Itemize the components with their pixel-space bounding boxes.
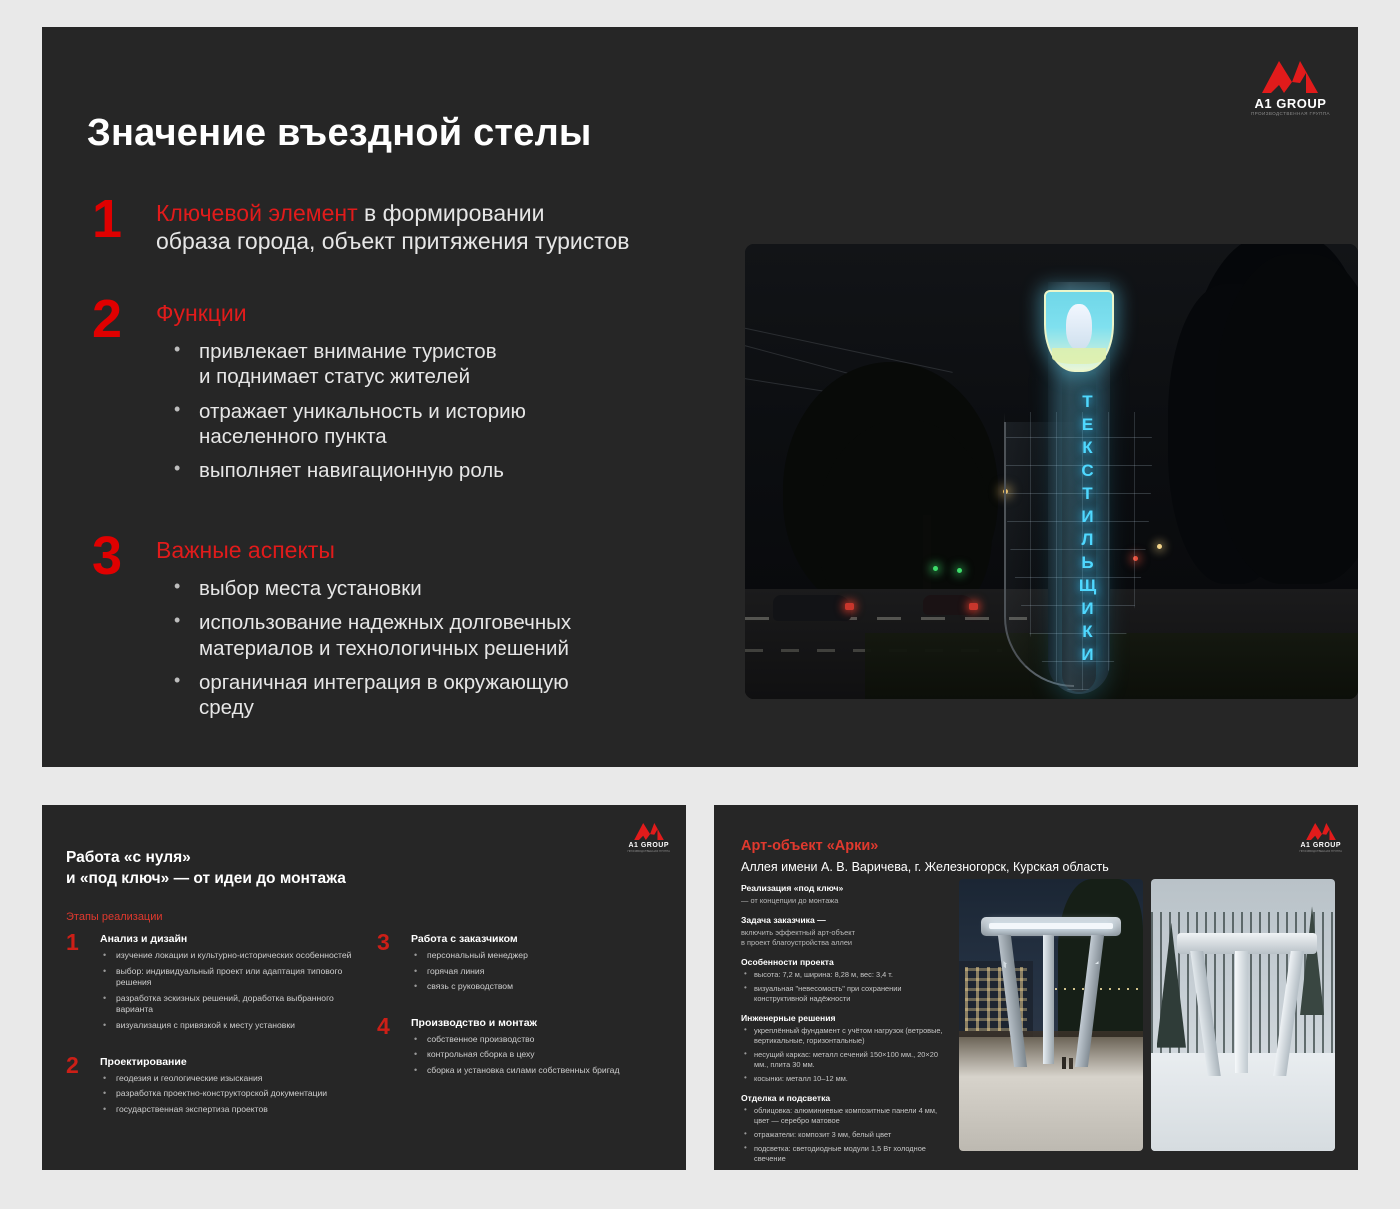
list-item: отражатели: композит 3 мм, белый цвет	[741, 1130, 946, 1140]
point-block-1: 1 Ключевой элемент в формировании образа…	[86, 197, 686, 255]
list-item: связь с руководством	[411, 981, 666, 993]
list-item: контрольная сборка в цеху	[411, 1049, 666, 1061]
list-item: отражает уникальность и историю населенн…	[156, 399, 686, 449]
slide-entry-stele-meaning: A1 GROUP ПРОИЗВОДСТВЕННАЯ ГРУППА Значени…	[42, 27, 1358, 767]
stages-grid: 1 Анализ и дизайн изучение локации и кул…	[66, 933, 666, 1139]
stage-heading: Работа с заказчиком	[411, 933, 666, 945]
list-item: привлекает внимание туристов и поднимает…	[156, 339, 686, 389]
section-heading: Задача заказчика —	[741, 915, 946, 926]
arch-leg-left	[1190, 951, 1220, 1076]
list-item: косынки: металл 10–12 мм.	[741, 1074, 946, 1084]
section-heading: Инженерные решения	[741, 1013, 946, 1024]
arch-structure	[1177, 933, 1317, 1069]
point-lead: образа города, объект притяжения туристо…	[156, 227, 686, 255]
stage-item-1: 1 Анализ и дизайн изучение локации и кул…	[66, 933, 355, 1036]
a1-group-logo: A1 GROUP ПРОИЗВОДСТВЕННАЯ ГРУППА	[1251, 59, 1330, 117]
photo-tree-center	[1215, 254, 1358, 584]
logo-wordmark: A1 GROUP	[1300, 842, 1341, 849]
list-item: подсветка: светодиодные модули 1,5 Вт хо…	[741, 1144, 946, 1164]
point-bullets: привлекает внимание туристов и поднимает…	[156, 339, 686, 483]
list-item: геодезия и геологические изыскания	[100, 1073, 355, 1085]
point-number: 1	[86, 197, 156, 241]
stage-item-4: 4 Производство и монтаж собственное прои…	[377, 1017, 666, 1081]
point-heading-plain: в формировании	[358, 200, 545, 226]
photo-pedestrian	[1069, 1058, 1073, 1069]
arch-structure	[981, 917, 1121, 1064]
city-coat-of-arms-icon	[1044, 290, 1114, 372]
section-bullets: облицовка: алюминиевые композитные панел…	[741, 1106, 946, 1164]
a1-logo-mark	[1262, 59, 1318, 93]
point-block-2: 2 Функции привлекает внимание туристов и…	[86, 297, 686, 492]
list-item: использование надежных долговечных матер…	[156, 610, 686, 660]
slide-subtitle: Аллея имени А. В. Варичева, г. Железного…	[741, 860, 1109, 874]
arki-details: Реализация «под ключ» — от концепции до …	[741, 883, 946, 1168]
list-item: разработка эскизных решений, доработка в…	[100, 993, 355, 1016]
arch-leg-middle	[1235, 951, 1248, 1073]
stages-column-right: 3 Работа с заказчиком персональный менед…	[377, 933, 666, 1139]
photo-street-lamp	[1157, 544, 1162, 549]
a1-group-logo: A1 GROUP ПРОИЗВОДСТВЕННАЯ ГРУППА	[627, 822, 670, 853]
photo-pedestrian	[1062, 1057, 1066, 1069]
logo-subword: ПРОИЗВОДСТВЕННАЯ ГРУППА	[1299, 850, 1342, 853]
presentation-page: A1 GROUP ПРОИЗВОДСТВЕННАЯ ГРУППА Значени…	[0, 0, 1400, 1209]
section-heading: Реализация «под ключ»	[741, 883, 946, 894]
list-item: государственная экспертиза проектов	[100, 1104, 355, 1116]
page-title: Значение въездной стелы	[87, 112, 592, 155]
list-item: визуализация с привязкой к месту установ…	[100, 1020, 355, 1032]
arch-leg-middle	[1043, 935, 1054, 1064]
slide-subtitle: Этапы реализации	[66, 911, 163, 923]
main-points-list: 1 Ключевой элемент в формировании образа…	[86, 197, 686, 767]
logo-wordmark: A1 GROUP	[628, 842, 669, 849]
photo-traffic-light-green	[957, 568, 962, 573]
stele-night-photo: ТЕКСТИЛЬЩИКИ	[745, 244, 1358, 699]
slide-title: Арт-объект «Арки»	[741, 838, 878, 854]
section-heading: Отделка и подсветка	[741, 1093, 946, 1104]
point-number: 2	[86, 297, 156, 341]
list-item: персональный менеджер	[411, 950, 666, 962]
photo-stele-structure: ТЕКСТИЛЬЩИКИ	[1000, 262, 1155, 687]
section-note: — от концепции до монтажа	[741, 896, 946, 906]
list-item: горячая линия	[411, 966, 666, 978]
slide-art-object-arki: A1 GROUP ПРОИЗВОДСТВЕННАЯ ГРУППА Арт-объ…	[714, 805, 1358, 1170]
list-item: выбор места установки	[156, 576, 686, 601]
list-item: визуальная "невесомость" при сохранении …	[741, 984, 946, 1004]
arki-photo-gallery	[959, 879, 1335, 1151]
arki-photo-night	[959, 879, 1143, 1151]
a1-logo-mark	[1306, 822, 1336, 840]
stage-bullets: собственное производство контрольная сбо…	[411, 1034, 666, 1077]
logo-subword: ПРОИЗВОДСТВЕННАЯ ГРУППА	[1251, 112, 1330, 117]
arki-photo-winter-day	[1151, 879, 1335, 1151]
stage-heading: Производство и монтаж	[411, 1017, 666, 1029]
list-item: несущий каркас: металл сечений 150×100 м…	[741, 1050, 946, 1070]
a1-group-logo: A1 GROUP ПРОИЗВОДСТВЕННАЯ ГРУППА	[1299, 822, 1342, 853]
a1-logo-mark	[634, 822, 664, 840]
photo-car	[773, 595, 851, 621]
stage-number: 3	[377, 933, 411, 953]
list-item: высота: 7,2 м, ширина: 8,28 м, вес: 3,4 …	[741, 970, 946, 980]
list-item: выбор: индивидуальный проект или адаптац…	[100, 966, 355, 989]
list-item: укреплённый фундамент с учётом нагрузок …	[741, 1026, 946, 1046]
stage-heading: Анализ и дизайн	[100, 933, 355, 945]
arch-leg-right	[1273, 951, 1303, 1076]
slide-title: Работа «с нуля» и «под ключ» — от идеи д…	[66, 847, 346, 890]
stage-number: 1	[66, 933, 100, 953]
point-block-3: 3 Важные аспекты выбор места установки и…	[86, 534, 686, 729]
stage-bullets: изучение локации и культурно-исторически…	[100, 950, 355, 1032]
stele-vertical-caption: ТЕКСТИЛЬЩИКИ	[1062, 380, 1096, 680]
point-heading-accent: Ключевой элемент	[156, 200, 358, 226]
list-item: выполняет навигационную роль	[156, 458, 686, 483]
photo-traffic-light-green	[933, 566, 938, 571]
list-item: собственное производство	[411, 1034, 666, 1046]
point-heading: Функции	[156, 299, 686, 327]
list-item: облицовка: алюминиевые композитные панел…	[741, 1106, 946, 1126]
section-note: включить эффектный арт-объект в проект б…	[741, 928, 946, 948]
arch-top-beam	[981, 917, 1121, 936]
list-item: сборка и установка силами собственных бр…	[411, 1065, 666, 1077]
stage-heading: Проектирование	[100, 1056, 355, 1068]
point-number: 3	[86, 534, 156, 578]
list-item: разработка проектно-конструкторской доку…	[100, 1088, 355, 1100]
logo-subword: ПРОИЗВОДСТВЕННАЯ ГРУППА	[627, 850, 670, 853]
photo-car	[923, 595, 975, 615]
stage-bullets: персональный менеджер горячая линия связ…	[411, 950, 666, 993]
point-heading: Важные аспекты	[156, 536, 686, 564]
arch-leg-left	[998, 935, 1027, 1067]
list-item: органичная интеграция в окружающую среду	[156, 670, 686, 720]
stage-item-3: 3 Работа с заказчиком персональный менед…	[377, 933, 666, 997]
stage-bullets: геодезия и геологические изыскания разра…	[100, 1073, 355, 1116]
stage-number: 2	[66, 1056, 100, 1076]
slide-work-stages: A1 GROUP ПРОИЗВОДСТВЕННАЯ ГРУППА Работа …	[42, 805, 686, 1170]
stages-column-left: 1 Анализ и дизайн изучение локации и кул…	[66, 933, 355, 1139]
section-heading: Особенности проекта	[741, 957, 946, 968]
section-bullets: укреплённый фундамент с учётом нагрузок …	[741, 1026, 946, 1084]
stage-number: 4	[377, 1017, 411, 1037]
list-item: изучение локации и культурно-исторически…	[100, 950, 355, 962]
point-heading: Ключевой элемент в формировании	[156, 199, 686, 227]
logo-wordmark: A1 GROUP	[1255, 97, 1327, 110]
arch-leg-right	[1075, 935, 1104, 1067]
point-bullets: выбор места установки использование наде…	[156, 576, 686, 720]
stage-item-2: 2 Проектирование геодезия и геологически…	[66, 1056, 355, 1120]
section-bullets: высота: 7,2 м, ширина: 8,28 м, вес: 3,4 …	[741, 970, 946, 1004]
